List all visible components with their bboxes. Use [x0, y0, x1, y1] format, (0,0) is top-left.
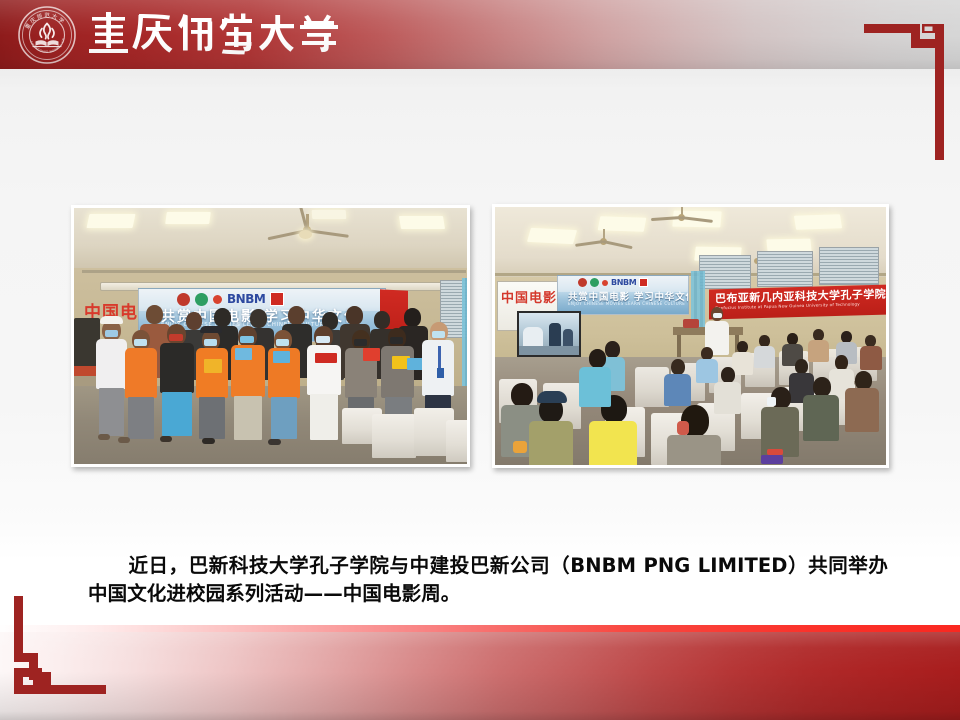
bnbm-wordmark: BNBM	[227, 292, 265, 306]
chinese-corner-ornament-top-right-icon	[864, 8, 948, 160]
slide-canvas: 重庆师范大学 CHONGQING NORMAL UNIVERSITY	[0, 0, 960, 720]
classroom-audience-photo: 中国电影 BNBM 共赏中国电影 学习中华文化 ENJOY CHINESE MO…	[492, 204, 889, 468]
caption-body: 近日，巴新科技大学孔子学院与中建投巴新公司（BNBM PNG LIMITED）共…	[88, 554, 888, 605]
university-seal-icon: 重庆师范大学 CHONGQING NORMAL UNIVERSITY	[18, 6, 76, 64]
bnbm-red-logo	[270, 292, 284, 306]
confucius-institute-logo	[177, 293, 190, 306]
bottom-band-highlight	[0, 625, 960, 632]
caption-text: 近日，巴新科技大学孔子学院与中建投巴新公司（BNBM PNG LIMITED）共…	[88, 552, 888, 607]
hanban-logo	[590, 278, 599, 287]
header-bar: 重庆师范大学 CHONGQING NORMAL UNIVERSITY	[0, 0, 960, 69]
cscec-logo	[602, 280, 608, 286]
cscec-logo	[213, 295, 222, 304]
confucius-institute-logo	[578, 278, 587, 287]
bnbm-red-logo	[639, 278, 648, 287]
bottom-gradient-band	[0, 625, 960, 720]
red-institute-banner: 巴布亚新几内亚科技大学孔子学院 Confucius Institute at P…	[709, 284, 886, 319]
chinese-corner-ornament-bottom-left-icon	[14, 596, 106, 706]
hanban-logo	[195, 293, 208, 306]
bnbm-wordmark: BNBM	[611, 278, 636, 287]
group-photo-with-banner: 中国电 BNBM 共赏中国电影 学习中华文化 ENJOY CHINESE MOV…	[71, 205, 470, 467]
institution-name-calligraphy	[86, 4, 338, 66]
